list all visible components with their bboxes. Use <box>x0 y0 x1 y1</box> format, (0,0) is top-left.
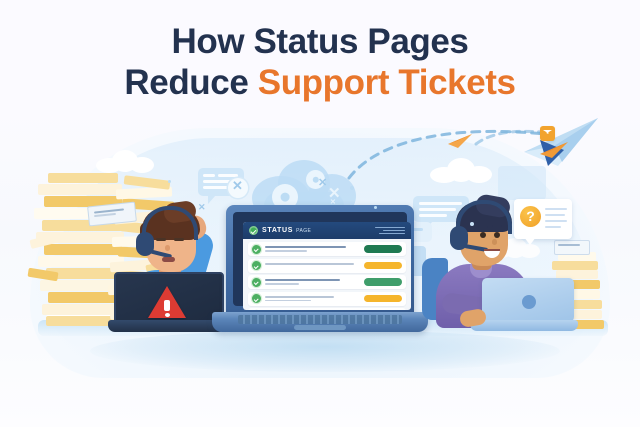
illustration-canvas: How Status Pages Reduce Support Tickets … <box>0 0 640 427</box>
status-row[interactable] <box>248 242 406 256</box>
page-title: How Status Pages Reduce Support Tickets <box>0 22 640 103</box>
status-row[interactable] <box>248 308 406 310</box>
check-icon <box>252 278 261 287</box>
status-row-text <box>265 279 364 284</box>
sparkle-dot <box>168 180 171 183</box>
check-icon <box>252 245 261 254</box>
flag-badge-icon <box>540 126 555 141</box>
laptop-base <box>212 312 428 332</box>
agent-brow <box>492 225 502 227</box>
laptop-keyboard[interactable] <box>238 315 402 324</box>
center-laptop: STATUS PAGE <box>212 205 428 337</box>
agent-eye <box>174 238 184 241</box>
laptop-screen <box>114 272 224 326</box>
status-badge <box>364 262 402 270</box>
x-icon-glyph: ✕ <box>232 178 243 194</box>
laptop-trackpad[interactable] <box>294 325 346 330</box>
laptop-with-alert <box>108 272 226 334</box>
card-text-line <box>545 226 561 228</box>
check-icon <box>252 261 261 270</box>
red-warning-triangle-icon <box>148 286 186 318</box>
x-icon: ✕ <box>318 176 327 189</box>
status-page-title: STATUS <box>262 227 293 234</box>
card-text-line <box>545 220 567 222</box>
status-page-header: STATUS PAGE <box>243 222 411 239</box>
question-speech-card: ? <box>514 199 572 239</box>
sparkle-dot <box>350 186 354 190</box>
status-row[interactable] <box>248 259 406 273</box>
status-row-list <box>243 239 411 310</box>
status-row-text <box>265 246 364 251</box>
status-page-meta <box>375 227 405 235</box>
small-paper-plane-icon <box>448 132 474 150</box>
agent-eye <box>494 232 500 238</box>
agent-eye <box>156 238 166 241</box>
title-line-1: How Status Pages <box>0 22 640 63</box>
title-line-2-dark: Reduce <box>124 63 257 102</box>
agent-brow <box>478 226 488 228</box>
card-text-line <box>545 214 565 216</box>
right-laptop-logo <box>522 295 536 309</box>
speech-tail <box>524 237 536 245</box>
agent-eye <box>480 232 486 238</box>
question-mark-icon: ? <box>520 206 541 227</box>
card-text-line <box>545 208 567 210</box>
small-paper-plane-icon <box>540 140 570 160</box>
status-row-text <box>265 296 364 301</box>
status-row[interactable] <box>248 275 406 289</box>
check-icon <box>252 294 261 303</box>
green-check-circle-icon <box>249 226 258 235</box>
status-badge <box>364 295 402 303</box>
agent-mouth <box>162 257 175 262</box>
status-badge <box>364 278 402 286</box>
right-laptop <box>470 278 578 334</box>
status-page-subtitle: PAGE <box>296 228 311 234</box>
title-line-2-accent: Support Tickets <box>258 63 516 102</box>
status-row[interactable] <box>248 292 406 306</box>
status-page-screen[interactable]: STATUS PAGE <box>243 222 411 310</box>
title-line-2: Reduce Support Tickets <box>0 63 640 104</box>
status-badge <box>364 245 402 253</box>
laptop-lid: STATUS PAGE <box>226 205 414 315</box>
right-laptop-base <box>470 320 578 331</box>
sparkle-dot <box>374 206 377 209</box>
laptop-bezel: STATUS PAGE <box>233 212 407 306</box>
agent-nose <box>492 239 497 245</box>
status-row-text <box>265 263 364 268</box>
agent-nose <box>165 245 170 251</box>
sparkle-dot <box>470 222 474 226</box>
laptop-base <box>108 320 226 332</box>
